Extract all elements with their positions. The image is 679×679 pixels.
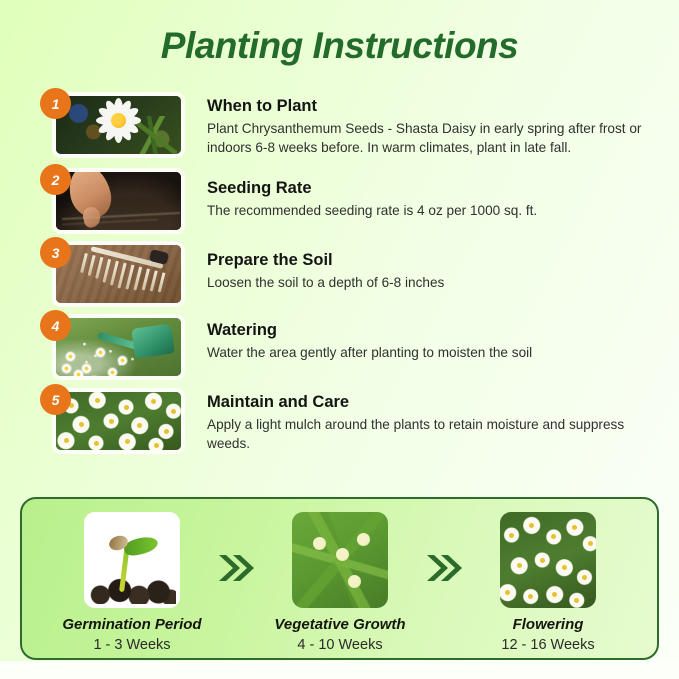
daisy-closeup-art (56, 96, 181, 154)
double-chevron-right-icon (424, 551, 464, 585)
hand-sowing-art (56, 172, 181, 230)
soil-furrow (62, 218, 158, 225)
hand-sowing-seeds-photo (52, 168, 185, 234)
page-title: Planting Instructions (0, 24, 679, 68)
step-number-badge: 5 (40, 384, 71, 415)
step-thumbnail-wrap: 2 (40, 168, 186, 234)
timeline-stage-germination: Germination Period 1 - 3 Weeks (48, 512, 216, 655)
daisy-field-art (56, 392, 181, 450)
sprout-cotyledon (123, 534, 160, 558)
planting-instructions-page: Planting Instructions 1 When to Plant Pl… (0, 0, 679, 679)
step-text: Seeding Rate The recommended seeding rat… (186, 168, 679, 220)
green-foliage-photo (292, 512, 388, 608)
stage-duration: 1 - 3 Weeks (48, 636, 216, 655)
stage-duration: 12 - 16 Weeks (464, 636, 632, 655)
step-text: When to Plant Plant Chrysanthemum Seeds … (186, 92, 679, 157)
daisy-centers (500, 512, 596, 608)
vegetative-art (292, 512, 388, 608)
step-thumbnail-wrap: 5 (40, 388, 186, 454)
step-number-badge: 1 (40, 88, 71, 119)
step-description: Water the area gently after planting to … (207, 343, 647, 362)
daisy-closeup-photo (52, 92, 185, 158)
watering-can-photo (52, 314, 185, 380)
stage-label: Flowering (464, 615, 632, 634)
list-item: 3 Prepare the Soil Loosen the soil to a … (0, 241, 679, 307)
stage-label: Germination Period (48, 615, 216, 634)
daisy-field-photo (52, 388, 185, 454)
list-item: 5 Maintain and Care Apply a light mulch … (0, 388, 679, 454)
growth-timeline-panel: Germination Period 1 - 3 Weeks Vegetativ… (20, 497, 659, 660)
step-text: Prepare the Soil Loosen the soil to a de… (186, 241, 679, 292)
step-description: Plant Chrysanthemum Seeds - Shasta Daisy… (207, 119, 647, 157)
stage-label: Vegetative Growth (256, 615, 424, 634)
watering-art (56, 318, 181, 376)
steps-list: 1 When to Plant Plant Chrysanthemum Seed… (0, 92, 679, 456)
list-item: 2 Seeding Rate The recommended seeding r… (0, 168, 679, 234)
blooming-daisies-art (500, 512, 596, 608)
step-number-badge: 2 (40, 164, 71, 195)
stage-duration: 4 - 10 Weeks (256, 636, 424, 655)
step-text: Watering Water the area gently after pla… (186, 314, 679, 362)
sprouting-seed-photo (84, 512, 180, 608)
step-title: When to Plant (207, 96, 647, 116)
step-thumbnail-wrap: 3 (40, 241, 186, 307)
hand-shape (65, 168, 115, 222)
timeline-stage-vegetative: Vegetative Growth 4 - 10 Weeks (256, 512, 424, 655)
step-description: Apply a light mulch around the plants to… (207, 415, 647, 453)
daisy-centers (56, 392, 181, 450)
step-description: Loosen the soil to a depth of 6-8 inches (207, 273, 647, 292)
soil-clumps (88, 574, 176, 604)
step-description: The recommended seeding rate is 4 oz per… (207, 201, 647, 220)
step-text: Maintain and Care Apply a light mulch ar… (186, 388, 679, 453)
list-item: 4 Watering Water the area gently after p… (0, 314, 679, 380)
step-number-badge: 3 (40, 237, 71, 268)
step-thumbnail-wrap: 1 (40, 92, 186, 158)
step-title: Watering (207, 320, 647, 340)
step-thumbnail-wrap: 4 (40, 314, 186, 380)
step-number-badge: 4 (40, 310, 71, 341)
timeline-stage-flowering: Flowering 12 - 16 Weeks (464, 512, 632, 655)
sprout-art (84, 512, 180, 608)
step-title: Seeding Rate (207, 178, 647, 198)
step-title: Maintain and Care (207, 392, 647, 412)
rake-art (56, 245, 181, 303)
double-chevron-right-icon (216, 551, 256, 585)
step-title: Prepare the Soil (207, 250, 647, 270)
list-item: 1 When to Plant Plant Chrysanthemum Seed… (0, 92, 679, 158)
rake-on-soil-photo (52, 241, 185, 307)
daisy-center (111, 113, 126, 128)
flower-buds (292, 512, 388, 608)
blooming-daisies-photo (500, 512, 596, 608)
